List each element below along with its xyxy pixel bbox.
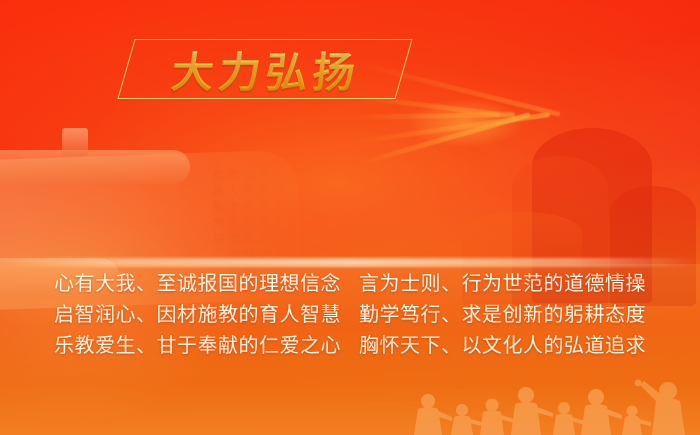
slogan-column-left: 心有大我、至诚报国的理想信念 启智润心、因材施教的育人智慧 乐教爱生、甘于奉献的… xyxy=(54,272,341,358)
slogan-block: 心有大我、至诚报国的理想信念 启智润心、因材施教的育人智慧 乐教爱生、甘于奉献的… xyxy=(0,272,700,358)
slogan-line: 乐教爱生、甘于奉献的仁爱之心 xyxy=(54,334,341,358)
title-char-3: 家 xyxy=(291,148,407,250)
title-char-5: 神 xyxy=(504,131,621,237)
main-title: 教 育 家 精 神 xyxy=(0,112,700,266)
title-char-1: 教 xyxy=(77,150,196,254)
slogan-column-right: 言为士则、行为世范的道德情操 勤学笃行、求是创新的躬耕态度 胸怀天下、以文化人的… xyxy=(359,272,646,358)
slogan-line: 启智润心、因材施教的育人智慧 xyxy=(54,303,341,327)
slogan-line: 言为士则、行为世范的道德情操 xyxy=(359,272,646,296)
slogan-line: 心有大我、至诚报国的理想信念 xyxy=(54,272,341,296)
title-char-4: 精 xyxy=(399,126,515,240)
header-label: 大力弘扬 xyxy=(143,40,389,98)
title-char-2: 育 xyxy=(186,133,302,245)
slogan-line: 勤学笃行、求是创新的躬耕态度 xyxy=(359,303,646,327)
slogan-line: 胸怀天下、以文化人的弘道追求 xyxy=(359,334,646,358)
promotional-banner: 也嘗書聖人書志學若夫為之古之學者必有師之所以傳道受業解惑也人非生而知之者孰能無惑… xyxy=(0,0,700,435)
ground-glow xyxy=(0,383,700,435)
